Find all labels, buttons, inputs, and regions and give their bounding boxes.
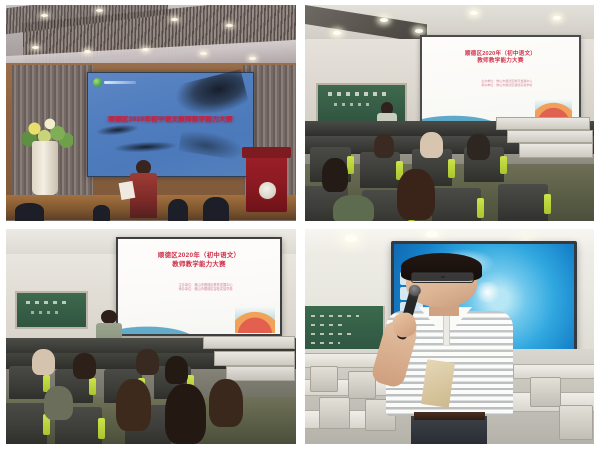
folding-table <box>203 336 295 349</box>
screen-subtitle: 主办单位：佛山市顺德区教育发展中心 承办单位：佛山市顺德区容桂实验学校 <box>160 283 251 292</box>
projection-screen[interactable]: 顺德区2020年（初中语文） 教师教学能力大赛 主办单位：佛山市顺德区教育发展中… <box>116 237 282 336</box>
folding-table <box>496 117 591 130</box>
stool <box>530 377 561 407</box>
belt <box>414 412 485 419</box>
audience-person <box>467 134 490 160</box>
chalk-writing <box>311 324 347 326</box>
chalk-writing <box>328 92 389 96</box>
downlight-icon <box>249 57 256 60</box>
led-wall-title: 顺德区2020年初中语文教师教学能力大赛 <box>98 116 243 124</box>
audience-person <box>136 349 159 375</box>
green-chalkboard <box>15 291 88 329</box>
folding-table <box>214 351 294 366</box>
stool <box>559 405 593 439</box>
trousers <box>411 416 487 444</box>
audience-head <box>168 199 188 221</box>
sun-illustration <box>235 289 276 333</box>
host-script-paper <box>118 181 134 201</box>
audience-chair <box>432 188 481 220</box>
audience-person <box>73 353 96 379</box>
ceiling-spotlight-icon <box>426 231 438 238</box>
host-speaker <box>130 160 156 218</box>
downlight-icon <box>171 18 178 21</box>
screen-title-line2: 教师教学能力大赛 <box>126 261 272 269</box>
ceiling-spotlight-icon <box>345 235 357 242</box>
chalk-writing <box>31 311 62 314</box>
chalk-writing <box>334 103 374 106</box>
red-lectern[interactable] <box>246 147 287 212</box>
stool <box>319 397 350 429</box>
downlight-icon <box>41 14 48 17</box>
chalk-writing <box>26 301 70 304</box>
ink-wash-art <box>179 128 248 161</box>
audience-person <box>32 349 55 375</box>
lectern-top <box>242 147 291 157</box>
screen-title: 顺德区2020年（初中语文） 教师教学能力大赛 <box>126 252 272 269</box>
led-video-wall[interactable]: 顺德区2020年初中语文教师教学能力大赛 <box>87 72 254 177</box>
lectern-emblem-icon <box>258 181 278 200</box>
audience-person <box>116 379 151 431</box>
audience-person <box>165 384 206 444</box>
ink-wash-art <box>174 69 250 122</box>
audience-person <box>165 356 188 384</box>
chalk-writing <box>311 315 359 317</box>
folding-table <box>519 143 593 158</box>
audience-chair <box>498 184 547 221</box>
audience-person <box>209 379 244 426</box>
audience-chair <box>6 403 47 444</box>
screen-title-line1: 顺德区2020年（初中语文） <box>126 252 272 260</box>
screen-title-line2: 教师教学能力大赛 <box>432 58 570 65</box>
audience-person <box>374 134 394 158</box>
flower-vase <box>32 141 58 195</box>
sun-illustration <box>535 84 573 122</box>
screen-subtitle-line2: 承办单位：佛山市顺德区容桂实验学校 <box>466 83 547 87</box>
stool <box>310 366 338 392</box>
folding-table <box>226 366 295 381</box>
downlight-icon <box>415 29 423 33</box>
folding-table <box>507 130 593 143</box>
downlight-icon <box>32 46 39 49</box>
screen-subtitle-line2: 承办单位：佛山市顺德区容桂实验学校 <box>160 287 251 291</box>
photo-top-right[interactable]: 顺德区2020年（初中语文） 教师教学能力大赛 主办单位：佛山市顺德区教育发展中… <box>305 5 595 221</box>
logo-wordmark <box>104 81 136 84</box>
chalk-writing <box>311 333 355 335</box>
screen-title: 顺德区2020年（初中语文） 教师教学能力大赛 <box>432 51 570 65</box>
projection-screen[interactable]: 顺德区2020年（初中语文） 教师教学能力大赛 主办单位：佛山市顺德区教育发展中… <box>420 35 580 125</box>
audience-head <box>93 205 110 220</box>
audience-person <box>44 386 73 420</box>
shirt-placket <box>443 315 450 345</box>
photo-bottom-left[interactable]: 顺德区2020年（初中语文） 教师教学能力大赛 主办单位：佛山市顺德区教育发展中… <box>6 229 296 445</box>
man-with-microphone <box>386 257 513 444</box>
leaf-icon <box>93 78 102 87</box>
kraft-envelope <box>421 360 455 408</box>
photo-top-left[interactable]: 顺德区2020年初中语文教师教学能力大赛 <box>6 5 296 221</box>
glasses-icon <box>411 272 474 283</box>
chalk-writing <box>311 342 341 344</box>
audience-person <box>420 132 443 158</box>
downlight-icon <box>380 18 388 22</box>
photo-collage: 顺德区2020年初中语文教师教学能力大赛 <box>0 0 600 450</box>
audience-person <box>333 195 374 221</box>
audience-head <box>15 203 44 220</box>
photo-bottom-right[interactable] <box>305 229 595 445</box>
ink-wash-art <box>114 140 177 154</box>
green-leaf-logo <box>93 77 136 88</box>
audience-head <box>203 197 229 221</box>
ink-wash-art <box>96 122 140 137</box>
audience-person <box>397 169 435 221</box>
audience-person <box>322 158 348 192</box>
screen-subtitle: 主办单位：佛山市顺德区教育发展中心 承办单位：佛山市顺德区容桂实验学校 <box>466 79 547 87</box>
